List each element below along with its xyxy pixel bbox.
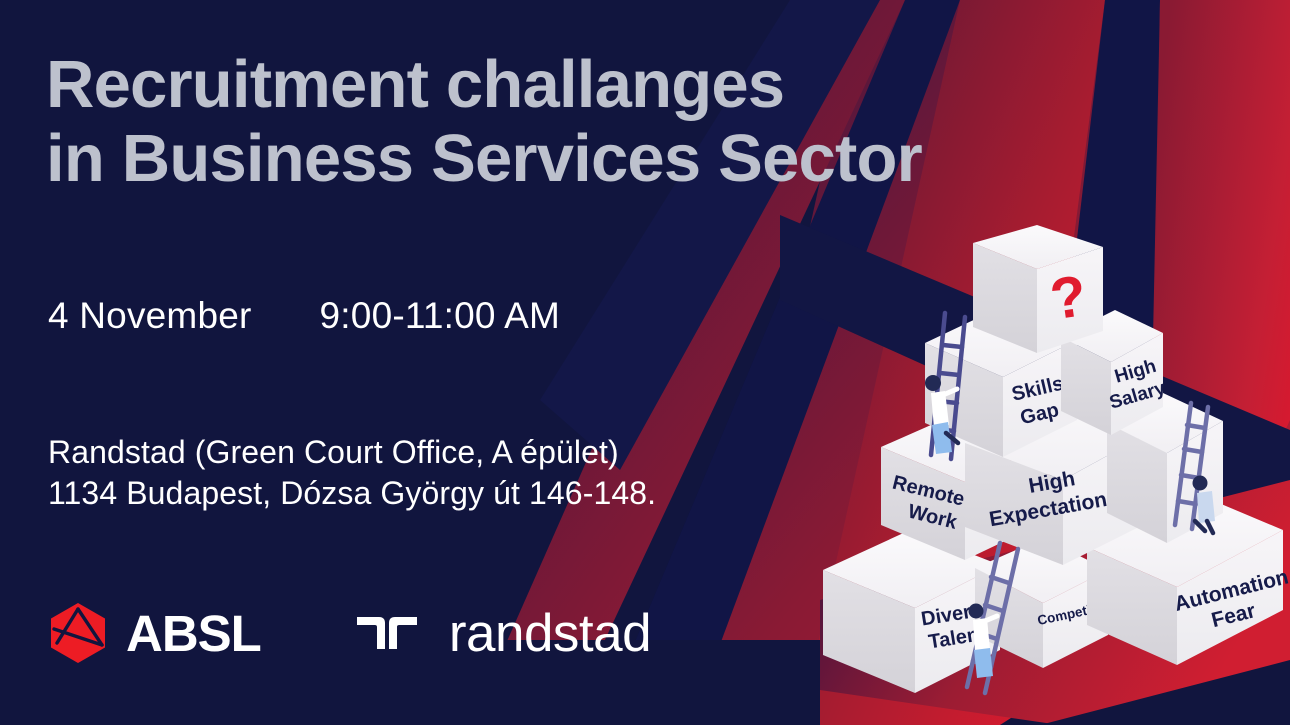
absl-hexagon-icon — [46, 601, 110, 665]
box-question: ? — [973, 225, 1103, 353]
venue-line-2: 1134 Budapest, Dózsa György út 146-148. — [48, 473, 656, 514]
event-venue: Randstad (Green Court Office, A épület) … — [48, 432, 656, 513]
randstad-wordmark: randstad — [449, 607, 651, 660]
absl-wordmark: ABSL — [126, 608, 261, 659]
event-time: 9:00-11:00 AM — [320, 295, 561, 337]
logo-row: ABSL randstad — [46, 601, 651, 665]
randstad-human-forward-icon — [357, 613, 417, 653]
randstad-logo: randstad — [357, 607, 651, 660]
event-banner: Recruitment challanges in Business Servi… — [0, 0, 1290, 725]
absl-logo: ABSL — [46, 601, 261, 665]
stacked-boxes-illustration: Diverse Talent Competition Automation Fe… — [815, 225, 1290, 725]
event-datetime: 4 November 9:00-11:00 AM — [48, 295, 560, 337]
page-title: Recruitment challanges in Business Servi… — [46, 48, 1176, 195]
event-date: 4 November — [48, 295, 252, 337]
title-line-2: in Business Services Sector — [46, 122, 1176, 196]
venue-line-1: Randstad (Green Court Office, A épület) — [48, 432, 656, 473]
title-line-1: Recruitment challanges — [46, 48, 1176, 122]
content-column: Recruitment challanges in Business Servi… — [46, 0, 826, 725]
